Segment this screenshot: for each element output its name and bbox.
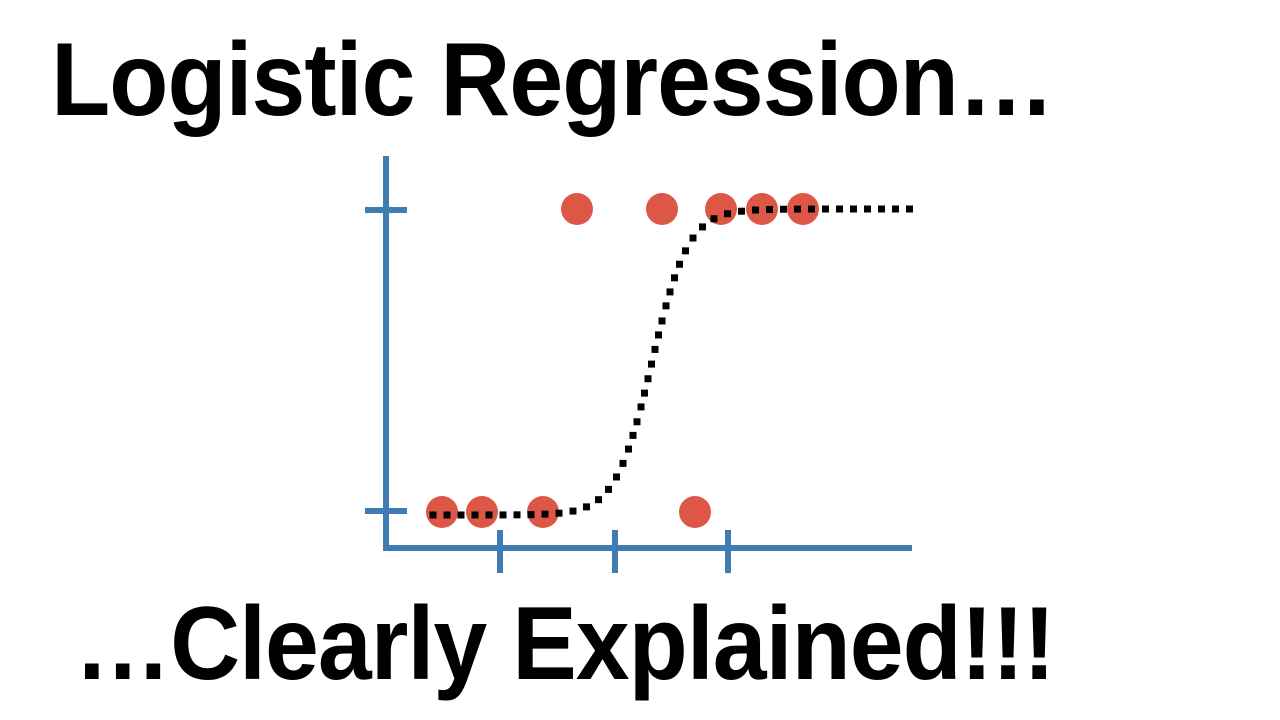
curve-dash xyxy=(682,247,689,254)
curve-dash xyxy=(711,215,718,222)
curve-dash xyxy=(570,508,577,515)
curve-dash xyxy=(430,511,437,518)
curve-dash xyxy=(766,206,773,213)
curve-dash xyxy=(836,206,843,213)
curve-dash xyxy=(892,206,899,213)
curve-dash xyxy=(630,432,637,439)
curve-dash xyxy=(542,511,549,518)
data-point xyxy=(705,193,737,225)
curve-dash xyxy=(645,375,652,382)
curve-dash xyxy=(794,206,801,213)
curve-dash xyxy=(652,346,659,353)
curve-dash xyxy=(648,361,655,368)
curve-dash xyxy=(638,403,645,410)
curve-dash xyxy=(655,331,662,338)
curve-dash xyxy=(906,206,913,213)
data-points xyxy=(426,193,819,528)
series-1 xyxy=(426,496,711,528)
curve-dash xyxy=(667,288,674,295)
curve-dash xyxy=(752,207,759,214)
curve-dash xyxy=(663,302,670,309)
curve-dash xyxy=(458,511,465,518)
curve-dash xyxy=(738,208,745,215)
curve-dash xyxy=(671,274,678,281)
fitted-sigmoid-curve xyxy=(430,206,914,519)
data-point xyxy=(746,193,778,225)
curve-dash xyxy=(500,511,507,518)
curve-dash xyxy=(444,511,451,518)
curve-dash xyxy=(486,511,493,518)
curve-dash xyxy=(625,446,632,453)
curve-dash xyxy=(864,206,871,213)
curve-dash xyxy=(780,206,787,213)
curve-dash xyxy=(613,473,620,480)
data-point xyxy=(679,496,711,528)
curve-dash xyxy=(472,511,479,518)
curve-dash xyxy=(878,206,885,213)
curve-dash xyxy=(514,511,521,518)
curve-dash xyxy=(605,486,612,493)
curve-dash xyxy=(634,418,641,425)
curve-dash xyxy=(620,460,627,467)
slide-canvas: Logistic Regression… …Clearly Explained!… xyxy=(0,0,1280,720)
curve-dash xyxy=(822,206,829,213)
curve-dash xyxy=(724,210,731,217)
curve-dash xyxy=(850,206,857,213)
curve-dash xyxy=(676,261,683,268)
curve-dash xyxy=(659,317,666,324)
data-point xyxy=(646,193,678,225)
data-point xyxy=(466,496,498,528)
data-point xyxy=(561,193,593,225)
curve-dash xyxy=(690,235,697,242)
curve-dash xyxy=(595,496,602,503)
curve-dash xyxy=(699,223,706,230)
page-subtitle: …Clearly Explained!!! xyxy=(0,592,1265,696)
curve-dash xyxy=(556,510,563,517)
x-axis-ticks xyxy=(500,530,728,573)
curve-dash xyxy=(808,206,815,213)
curve-dash xyxy=(528,511,535,518)
curve-dash xyxy=(583,503,590,510)
curve-dash xyxy=(641,390,648,397)
